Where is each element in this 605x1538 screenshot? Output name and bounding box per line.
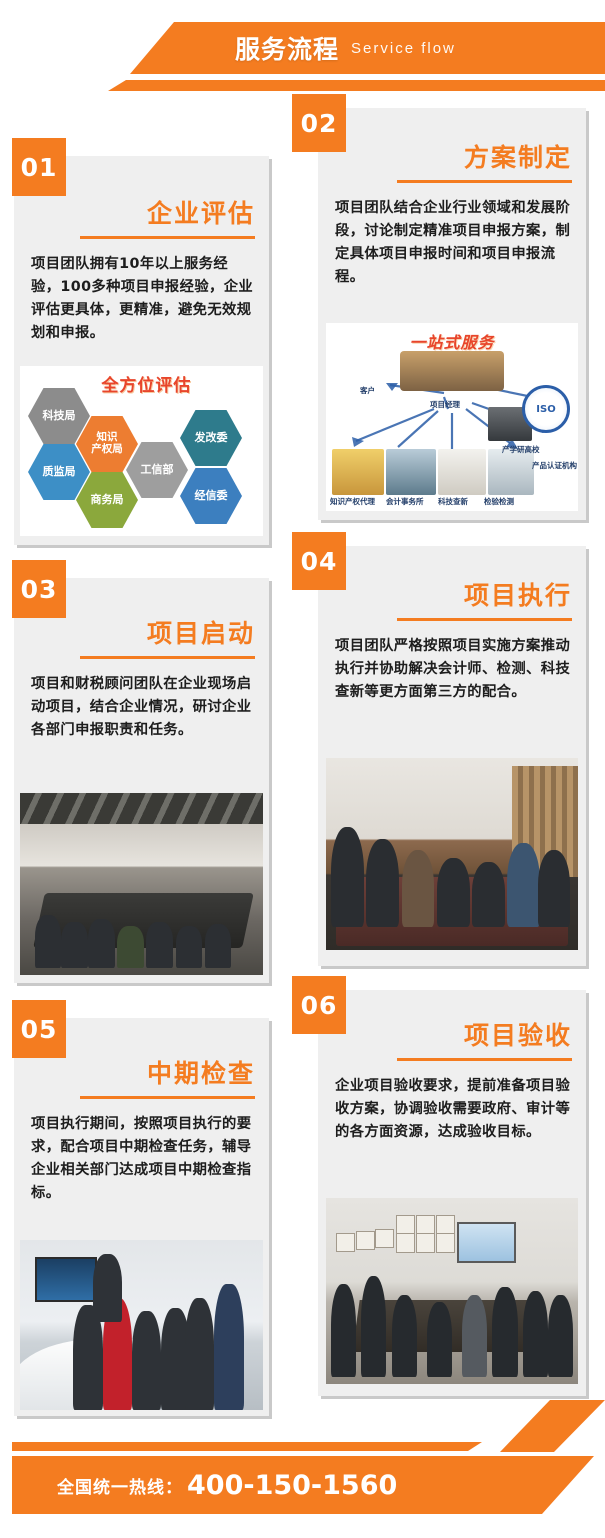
one-stop-label-accounting: 会计事务所 (386, 496, 424, 507)
step-badge-06: 06 (292, 976, 346, 1034)
one-stop-label-ip: 知识产权代理 (330, 496, 375, 507)
step-card-06[interactable]: 项目验收 企业项目验收要求，提前准备项目验收方案，协调验收需要政府、审计等的各方… (318, 990, 586, 1396)
card-title-01: 企业评估 (14, 194, 269, 230)
footer-hotline-bar: 全国统一热线： 400-150-1560 (12, 1456, 594, 1514)
one-stop-title: 一站式服务 (409, 329, 494, 353)
card-title-03: 项目启动 (14, 614, 269, 650)
step-card-01[interactable]: 企业评估 项目团队拥有10年以上服务经验，100多种项目申报经验，企业评估更具体… (14, 156, 269, 545)
one-stop-label-university: 产学研高校 (502, 444, 540, 455)
footer-diagonal-accent (488, 1400, 605, 1452)
step-card-03[interactable]: 项目启动 项目和财税顾问团队在企业现场启动项目，结合企业情况，研讨企业各部门申报… (14, 578, 269, 983)
card-body-06: 企业项目验收要求，提前准备项目验收方案，协调验收需要政府、审计等的各方面资源，达… (318, 1061, 586, 1144)
one-stop-hub-photo (400, 351, 504, 391)
card-body-01: 项目团队拥有10年以上服务经验，100多种项目申报经验，企业评估更具体，更精准，… (14, 239, 269, 346)
step-badge-03: 03 (12, 560, 66, 618)
step-badge-04: 04 (292, 532, 346, 590)
card-body-05: 项目执行期间，按照项目执行的要求，配合项目中期检查任务，辅导企业相关部门达成项目… (14, 1099, 269, 1206)
hex-node-jingxinwei: 经信委 (180, 468, 242, 524)
photo-meeting-hall (326, 1198, 578, 1384)
header-accent-stripe (108, 80, 605, 91)
page-subtitle: Service flow (351, 40, 456, 57)
footer-accent-stripe (12, 1442, 482, 1451)
step-card-05[interactable]: 中期检查 项目执行期间，按照项目执行的要求，配合项目中期检查任务，辅导企业相关部… (14, 1018, 269, 1416)
one-stop-thumb-accounting (386, 449, 436, 495)
one-stop-thumb-ip (332, 449, 384, 495)
photo-conference-room (20, 793, 263, 975)
one-stop-label-search: 科技查新 (438, 496, 468, 507)
step-card-02[interactable]: 方案制定 项目团队结合企业行业领域和发展阶段，讨论制定精准项目申报方案，制定具体… (318, 108, 586, 520)
hex-node-gongxinbu: 工信部 (126, 442, 188, 498)
card-title-04: 项目执行 (318, 576, 586, 612)
card-title-02: 方案制定 (318, 138, 586, 174)
one-stop-certification-seal: ISO (522, 385, 570, 433)
hotline-label: 全国统一热线： (57, 1473, 183, 1498)
one-stop-service-diagram: 一站式服务 客户 项目经理 ISO 知识产权代理 会计事务所 科技查新 检验检测… (326, 323, 578, 511)
hex-diagram-title: 全方位评估 (101, 371, 191, 396)
card-body-03: 项目和财税顾问团队在企业现场启动项目，结合企业情况，研讨企业各部门申报职责和任务… (14, 659, 269, 742)
page-title: 服务流程 (235, 30, 339, 66)
card-body-02: 项目团队结合企业行业领域和发展阶段，讨论制定精准项目申报方案，制定具体项目申报时… (318, 183, 586, 290)
one-stop-client-label: 客户 (360, 385, 375, 396)
card-title-05: 中期检查 (14, 1054, 269, 1090)
one-stop-label-certification: 产品认证机构 (532, 460, 577, 471)
one-stop-thumb-testing (488, 449, 534, 495)
one-stop-manager-label: 项目经理 (430, 399, 460, 410)
one-stop-thumb-search (438, 449, 486, 495)
step-badge-02: 02 (292, 94, 346, 152)
header-banner: 服务流程 Service flow (130, 22, 605, 74)
step-badge-01: 01 (12, 138, 66, 196)
all-round-assessment-diagram: 全方位评估 科技局 知识产权局 发改委 质监局 工信部 经信委 商务局 (20, 366, 263, 536)
card-title-06: 项目验收 (318, 1016, 586, 1052)
photo-laptop-meeting (326, 758, 578, 950)
hex-node-fagaiwei: 发改委 (180, 410, 242, 466)
card-body-04: 项目团队严格按照项目实施方案推动执行并协助解决会计师、检测、科技查新等更方面第三… (318, 621, 586, 704)
step-badge-05: 05 (12, 1000, 66, 1058)
step-card-04[interactable]: 项目执行 项目团队严格按照项目实施方案推动执行并协助解决会计师、检测、科技查新等… (318, 546, 586, 966)
photo-lobby-visit (20, 1240, 263, 1410)
one-stop-label-testing: 检验检测 (484, 496, 514, 507)
hotline-number[interactable]: 400-150-1560 (187, 1470, 397, 1501)
